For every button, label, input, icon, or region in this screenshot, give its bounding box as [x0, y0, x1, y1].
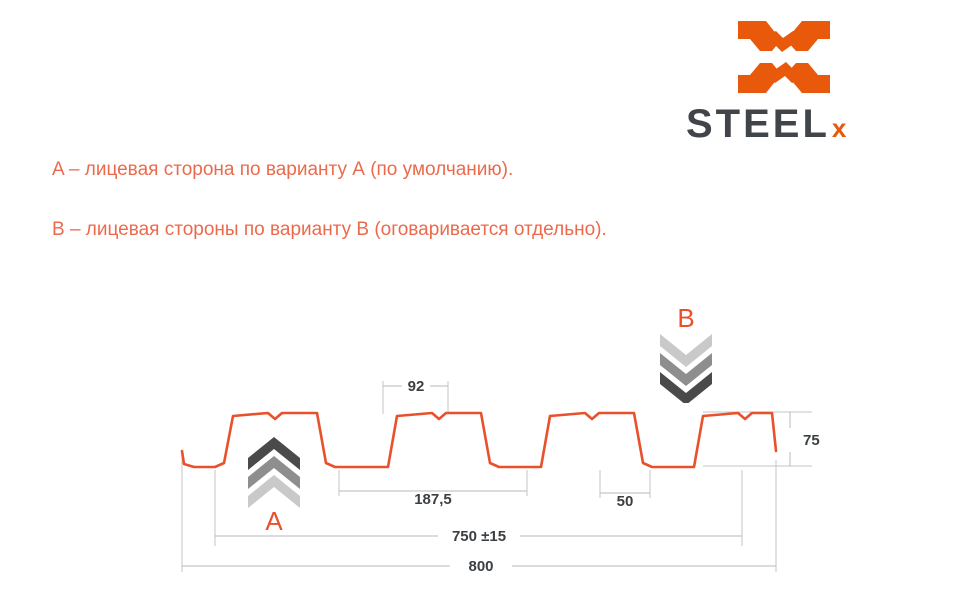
face-variant-b-marker [658, 331, 714, 403]
page-canvas: STEEL x A – лицевая сторона по варианту … [0, 0, 970, 597]
dimension-label-75: 75 [803, 432, 820, 449]
dimension-label-187-5: 187,5 [414, 491, 452, 508]
dimension-label-750: 750 ±15 [452, 528, 506, 545]
profile-technical-drawing: 92 187,5 50 75 750 ±15 800 [0, 0, 970, 597]
dimension-labels: 92 187,5 50 75 750 ±15 800 [408, 378, 820, 575]
face-variant-a-marker [246, 437, 302, 509]
dimension-label-50: 50 [617, 493, 634, 510]
face-variant-b-letter: B [658, 305, 714, 331]
chevron-up-icon [248, 437, 300, 508]
dimension-label-800: 800 [468, 558, 493, 575]
chevron-down-icon [660, 334, 712, 403]
dimension-label-92: 92 [408, 378, 425, 395]
face-variant-a-letter: A [246, 508, 302, 534]
